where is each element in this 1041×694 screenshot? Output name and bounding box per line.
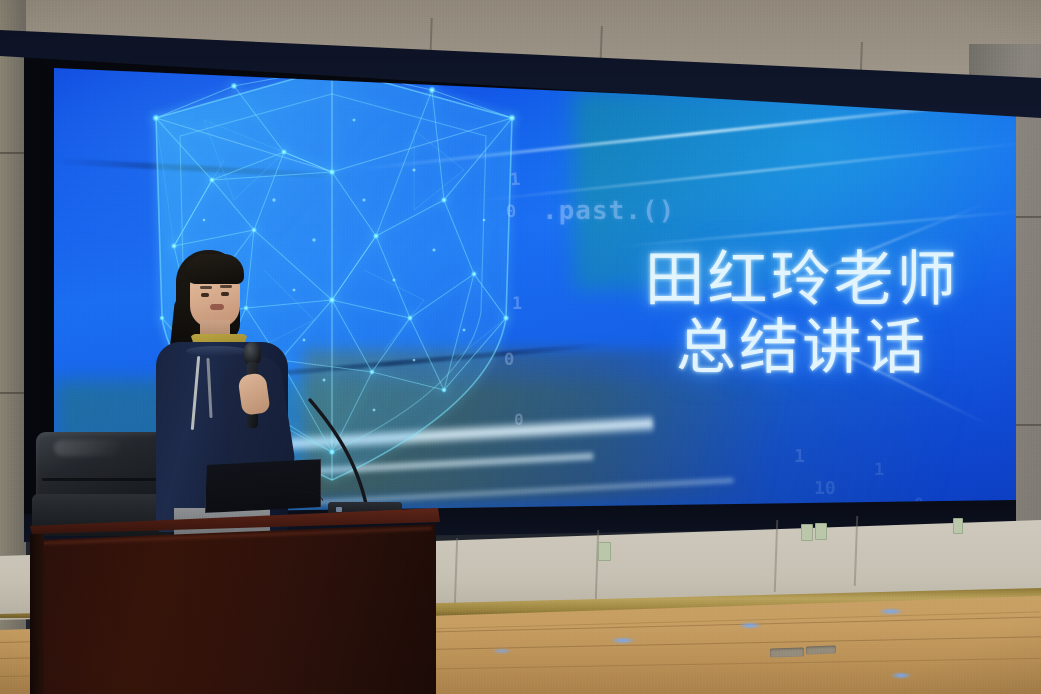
eye [201, 293, 209, 297]
floor-access-plate [770, 647, 804, 657]
wall-outlet[interactable] [953, 518, 963, 534]
floor-light-reflection [610, 637, 636, 644]
lectern-side-panel [30, 534, 44, 694]
floor-light-reflection [738, 622, 762, 629]
wall-outlet[interactable] [815, 523, 827, 540]
binary-bit: 1 [512, 294, 522, 314]
eyebrow [200, 286, 212, 289]
binary-bit: 1 [509, 170, 521, 191]
floor-light-reflection [890, 672, 912, 679]
wooden-lectern [30, 508, 440, 694]
mouth [210, 304, 224, 310]
slide-title-line-1: 田红玲老师 [602, 246, 1002, 314]
hair-fringe [186, 254, 244, 284]
lectern-front-panel [38, 524, 436, 694]
eyebrow [220, 285, 232, 288]
eye [221, 292, 229, 296]
chair-highlight [54, 440, 124, 456]
slide-title-line-2: 总结讲话 [602, 314, 1002, 382]
binary-bit: 1 [874, 460, 884, 480]
wall-outlet[interactable] [598, 542, 611, 561]
floor-access-plate [806, 645, 836, 654]
floor-light-reflection [878, 608, 904, 615]
screen-code-text: .past.() [542, 196, 675, 226]
wall-seam [0, 152, 26, 154]
light-streak [614, 209, 1033, 248]
wall-seam [0, 392, 26, 394]
wall-outlet[interactable] [801, 524, 813, 541]
photo-canvas: .past.() 1 0 1 0 0 1 10 01 1 0 田红玲老师 总结讲… [0, 0, 1041, 694]
binary-bit: 0 [514, 410, 524, 429]
binary-bit: 1 [794, 446, 805, 467]
slide-title: 田红玲老师 总结讲话 [602, 246, 1002, 383]
binary-bit: 0 [505, 202, 517, 223]
light-streak [474, 141, 1031, 202]
binary-bit: 0 [504, 350, 514, 370]
hood-opening [186, 346, 248, 356]
microphone-head [244, 342, 261, 364]
binary-bit: 10 [814, 478, 836, 499]
left-wall-edge [0, 0, 26, 640]
floor-light-reflection [492, 648, 512, 654]
chair-seam [42, 478, 160, 481]
